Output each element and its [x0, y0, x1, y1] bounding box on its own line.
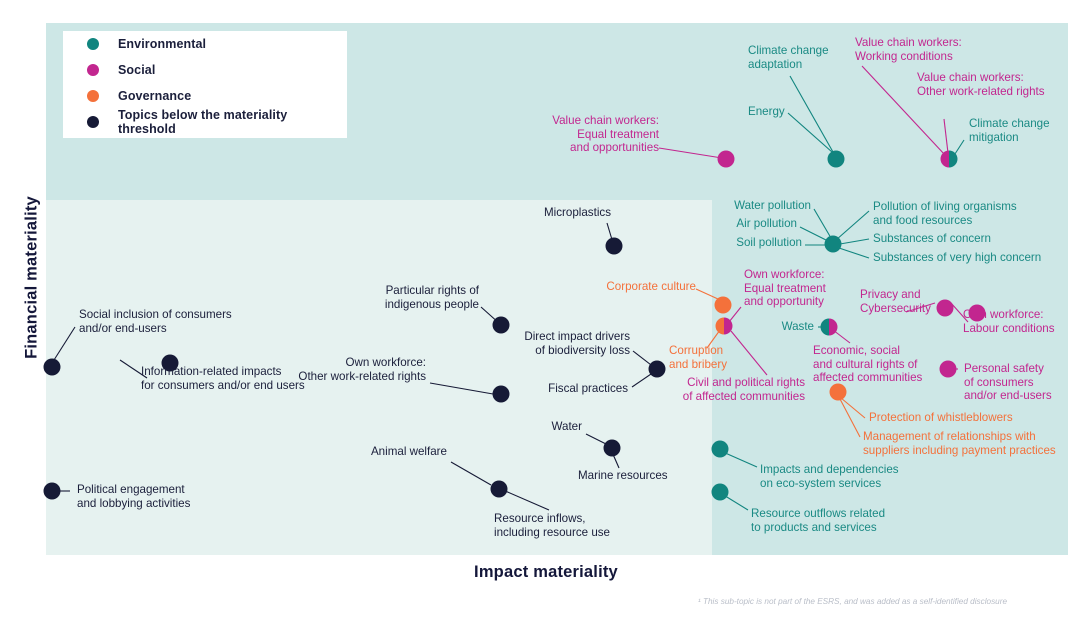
label-economic-social-cultural-rights: Economic, social and cultural rights of … [813, 344, 922, 385]
point-animal-welfare-resource-inflows[interactable] [491, 481, 508, 498]
point-climate-change-adaptation-energy[interactable] [828, 151, 845, 168]
label-value-chain-other-work-related-rights: Value chain workers: Other work-related … [917, 71, 1045, 98]
label-marine-resources: Marine resources [578, 469, 668, 483]
point-direct-impact-biodiversity-fiscal[interactable] [649, 361, 666, 378]
point-economic-social-cultural-rights[interactable] [829, 319, 838, 336]
label-direct-impact-biodiversity: Direct impact drivers of biodiversity lo… [460, 330, 630, 357]
label-substances-very-high-concern: Substances of very high concern [873, 251, 1041, 265]
legend-item-below-threshold[interactable]: Topics below the materiality threshold [63, 109, 347, 135]
point-political-engagement[interactable] [44, 483, 61, 500]
label-impacts-dependencies-ecosystem: Impacts and dependencies on eco-system s… [760, 463, 899, 490]
legend-dot-governance [87, 90, 99, 102]
label-privacy-cybersecurity: Privacy and Cybersecurity [860, 288, 931, 315]
label-value-chain-working-conditions: Value chain workers: Working conditions [855, 36, 962, 63]
point-water-marine-resources[interactable] [604, 440, 621, 457]
label-microplastics: Microplastics [468, 206, 611, 220]
label-climate-change-mitigation: Climate change mitigation [969, 117, 1050, 144]
legend-label-below-threshold: Topics below the materiality threshold [118, 108, 347, 136]
label-protection-whistleblowers: Protection of whistleblowers [869, 411, 1013, 425]
label-soil-pollution: Soil pollution [614, 236, 802, 250]
label-animal-welfare: Animal welfare [322, 445, 447, 459]
label-own-workforce-labour-conditions: Own workforce: Labour conditions [963, 308, 1055, 335]
legend-item-governance[interactable]: Governance [63, 83, 347, 109]
label-water-pollution: Water pollution [614, 199, 811, 213]
legend-dot-social [87, 64, 99, 76]
point-social-inclusion-consumers[interactable] [44, 359, 61, 376]
label-political-engagement: Political engagement and lobbying activi… [77, 483, 190, 510]
label-waste: Waste [718, 320, 814, 334]
label-value-chain-equal-treatment: Value chain workers: Equal treatment and… [409, 114, 659, 155]
label-pollution-living-organisms: Pollution of living organisms and food r… [873, 200, 1017, 227]
point-value-chain-working-conditions[interactable] [941, 151, 950, 168]
point-waste[interactable] [821, 319, 830, 336]
label-management-relationships-suppliers: Management of relationships with supplie… [863, 430, 1056, 457]
label-water: Water [470, 420, 582, 434]
label-own-workforce-other-work-related-rights: Own workforce: Other work-related rights [228, 356, 426, 383]
label-resource-outflows: Resource outflows related to products an… [751, 507, 885, 534]
label-climate-change-adaptation: Climate change adaptation [748, 44, 829, 71]
point-resource-outflows[interactable] [712, 484, 729, 501]
label-own-workforce-equal-treatment: Own workforce: Equal treatment and oppor… [744, 268, 826, 309]
label-personal-safety-consumers: Personal safety of consumers and/or end-… [964, 362, 1052, 403]
point-personal-safety-consumers[interactable] [940, 361, 957, 378]
point-pollution-cluster[interactable] [825, 236, 842, 253]
label-social-inclusion-consumers: Social inclusion of consumers and/or end… [79, 308, 232, 335]
legend-item-social[interactable]: Social [63, 57, 347, 83]
point-climate-change-mitigation[interactable] [949, 151, 958, 168]
point-corporate-culture[interactable] [715, 297, 732, 314]
label-corruption-and-bribery: Corruption and bribery [669, 344, 727, 371]
label-air-pollution: Air pollution [614, 217, 797, 231]
label-particular-rights-indigenous: Particular rights of indigenous people [281, 284, 479, 311]
label-corporate-culture: Corporate culture [546, 280, 696, 294]
label-resource-inflows: Resource inflows, including resource use [494, 512, 610, 539]
point-whistleblowers-suppliers[interactable] [830, 384, 847, 401]
legend-label-environmental: Environmental [118, 37, 206, 51]
legend-dot-below-threshold [87, 116, 99, 128]
point-impacts-dependencies-ecosystem[interactable] [712, 441, 729, 458]
point-privacy-cybersecurity[interactable] [937, 300, 954, 317]
label-substances-of-concern: Substances of concern [873, 232, 991, 246]
legend-label-governance: Governance [118, 89, 191, 103]
legend-label-social: Social [118, 63, 155, 77]
point-value-chain-equal-treatment[interactable] [718, 151, 735, 168]
label-energy: Energy [748, 105, 785, 119]
legend-dot-environmental [87, 38, 99, 50]
chart-legend: Environmental Social Governance Topics b… [63, 31, 347, 138]
label-fiscal-practices: Fiscal practices [480, 382, 628, 396]
legend-item-environmental[interactable]: Environmental [63, 31, 347, 57]
